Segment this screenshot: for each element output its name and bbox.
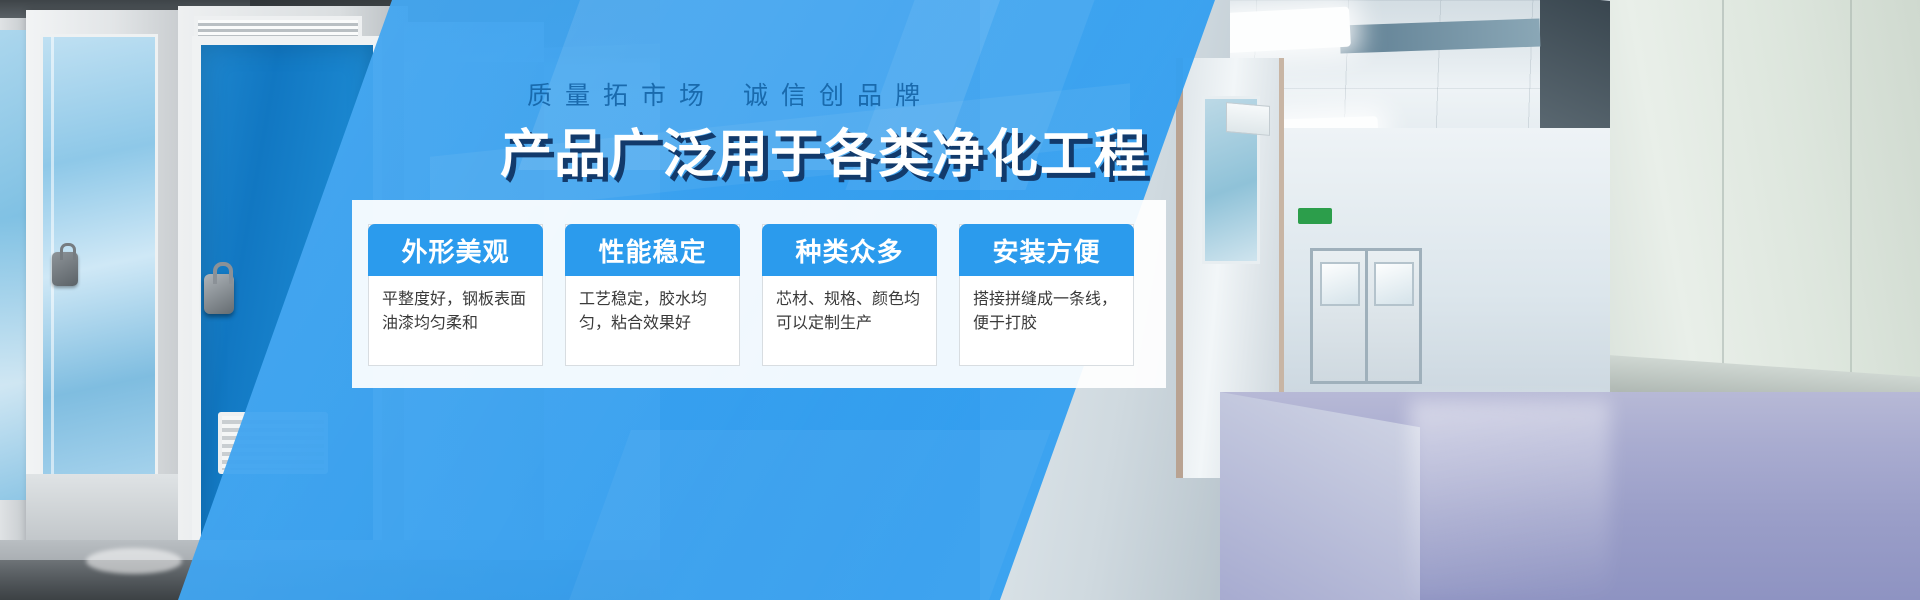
corridor-door-far-window-right xyxy=(1374,262,1414,306)
feature-card-body: 芯材、规格、颜色均可以定制生产 xyxy=(763,276,936,365)
corridor-floor-left xyxy=(1220,392,1420,600)
feature-card-title: 性能稳定 xyxy=(565,224,740,276)
subtitle-left-phrase: 质量拓市场 xyxy=(527,81,717,110)
feature-card-body: 搭接拼缝成一条线，便于打胶 xyxy=(960,276,1133,365)
cabin-lock-icon xyxy=(52,252,78,286)
corridor-door-far-window-left xyxy=(1320,262,1360,306)
feature-card[interactable]: 安装方便 搭接拼缝成一条线，便于打胶 xyxy=(959,224,1134,366)
feature-card[interactable]: 性能稳定 工艺稳定，胶水均匀，粘合效果好 xyxy=(565,224,740,366)
wall-sign xyxy=(1226,102,1270,136)
exit-sign-icon xyxy=(1298,208,1332,224)
feature-card-body: 工艺稳定，胶水均匀，粘合效果好 xyxy=(566,276,739,365)
banner-headline: 产品广泛用于各类净化工程 xyxy=(500,112,1148,187)
ground-highlight xyxy=(86,548,182,574)
subtitle-right-phrase: 诚信创品牌 xyxy=(743,81,933,110)
floor-reflection xyxy=(1410,400,1610,600)
feature-card-title: 外形美观 xyxy=(368,224,543,276)
feature-card-title: 安装方便 xyxy=(959,224,1134,276)
promo-banner: 质量拓市场诚信创品牌 产品广泛用于各类净化工程 外形美观 平整度好，钢板表面油漆… xyxy=(0,0,1920,600)
banner-subtitle: 质量拓市场诚信创品牌 xyxy=(527,76,933,112)
cabin-far-left-glass xyxy=(0,30,28,500)
feature-card[interactable]: 种类众多 芯材、规格、颜色均可以定制生产 xyxy=(762,224,937,366)
ceiling-light-1 xyxy=(1217,7,1351,54)
door-handle-icon xyxy=(204,274,234,314)
feature-card-body: 平整度好，钢板表面油漆均匀柔和 xyxy=(369,276,542,365)
feature-card-title: 种类众多 xyxy=(762,224,937,276)
feature-card-list: 外形美观 平整度好，钢板表面油漆均匀柔和 性能稳定 工艺稳定，胶水均匀，粘合效果… xyxy=(368,224,1134,366)
feature-card[interactable]: 外形美观 平整度好，钢板表面油漆均匀柔和 xyxy=(368,224,543,366)
